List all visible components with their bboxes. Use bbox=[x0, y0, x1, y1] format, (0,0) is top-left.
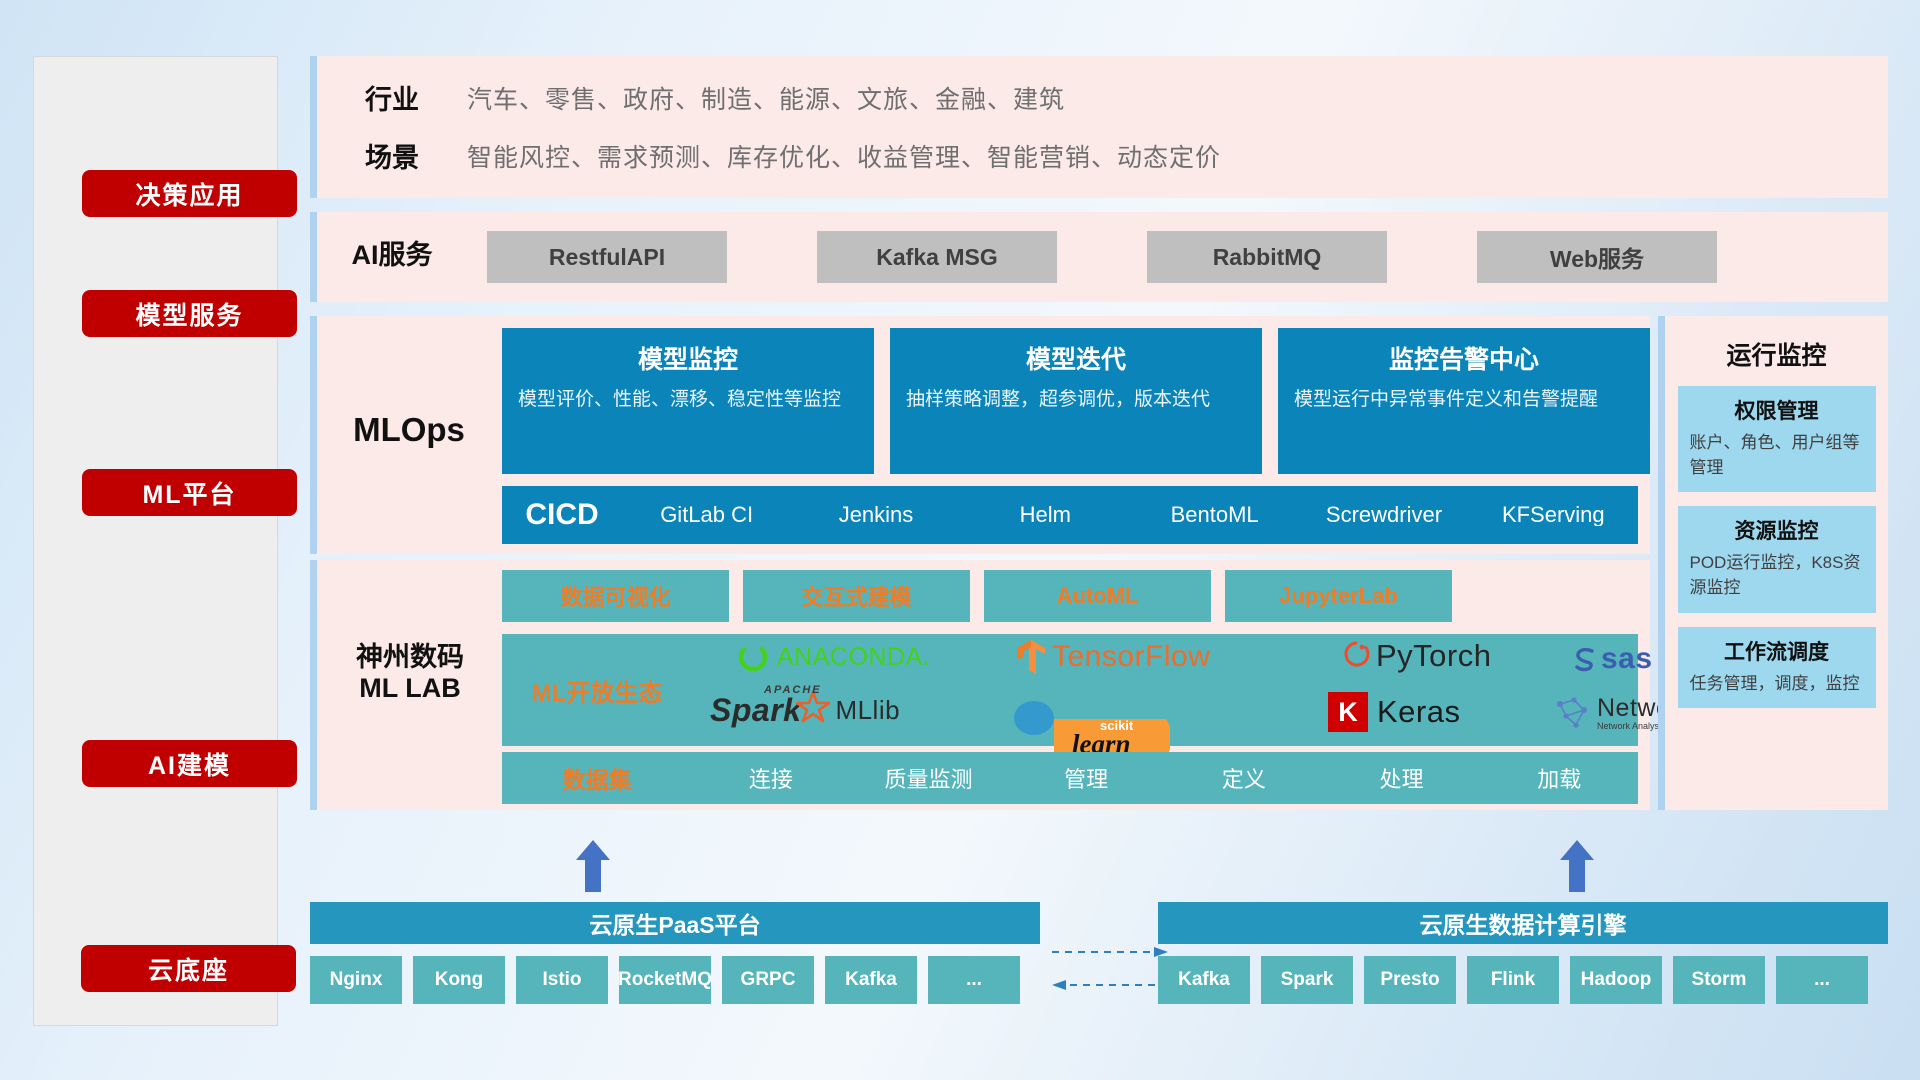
keras-mark-icon: K bbox=[1328, 692, 1368, 732]
sas-mark-icon bbox=[1570, 644, 1600, 674]
ml-open-ecosystem-title: ML开放生态 bbox=[502, 673, 692, 708]
card-title: 工作流调度 bbox=[1690, 636, 1864, 666]
pytorch-logo-text: PyTorch bbox=[1376, 638, 1491, 674]
ml-open-ecosystem-bar: ML开放生态 ANACONDA. bbox=[502, 634, 1638, 746]
card-desc: 账户、角色、用户组等管理 bbox=[1690, 431, 1864, 480]
spark-logo-text: Spark bbox=[710, 692, 801, 729]
tool-chip-interactive-modeling[interactable]: 交互式建模 bbox=[743, 570, 970, 622]
card-title: 模型监控 bbox=[518, 340, 858, 376]
paas-chip-kong[interactable]: Kong bbox=[413, 956, 505, 1004]
card-title: 监控告警中心 bbox=[1294, 340, 1634, 376]
cicd-item-screwdriver[interactable]: Screwdriver bbox=[1299, 504, 1468, 526]
runtime-monitor-panel: 运行监控 权限管理 账户、角色、用户组等管理 资源监控 POD运行监控，K8S资… bbox=[1658, 316, 1888, 810]
dataset-item-processing[interactable]: 处理 bbox=[1323, 762, 1481, 794]
ai-service-band: AI服务 RestfulAPI Kafka MSG RabbitMQ Web服务 bbox=[310, 212, 1888, 302]
ml-lab-label-line2: ML LAB bbox=[325, 673, 495, 704]
ml-lab-label: 神州数码 ML LAB bbox=[325, 642, 495, 704]
ai-service-label: AI服务 bbox=[317, 240, 467, 271]
scikit-learn-logo: scikit learn bbox=[1010, 692, 1050, 738]
industry-label: 行业 bbox=[317, 78, 467, 117]
monitor-card-resource-monitoring[interactable]: 资源监控 POD运行监控，K8S资源监控 bbox=[1678, 506, 1876, 612]
engine-chip-kafka[interactable]: Kafka bbox=[1158, 956, 1250, 1004]
left-rail: 决策应用 模型服务 ML平台 AI建模 bbox=[33, 56, 278, 1026]
ai-service-chip-restfulapi[interactable]: RestfulAPI bbox=[487, 231, 727, 283]
scenario-value: 智能风控、需求预测、库存优化、收益管理、智能营销、动态定价 bbox=[467, 138, 1221, 174]
engine-chip-more[interactable]: ... bbox=[1776, 956, 1868, 1004]
architecture-diagram: 决策应用 模型服务 ML平台 AI建模 云底座 行业 汽车、零售、政府、制造、能… bbox=[0, 0, 1920, 1080]
rail-item-model-service[interactable]: 模型服务 bbox=[82, 290, 297, 337]
cicd-item-helm[interactable]: Helm bbox=[961, 504, 1130, 526]
engine-chip-spark[interactable]: Spark bbox=[1261, 956, 1353, 1004]
dataset-item-definition[interactable]: 定义 bbox=[1165, 762, 1323, 794]
mllib-logo-text: MLlib bbox=[835, 695, 900, 726]
tensorflow-mark-icon bbox=[1014, 638, 1048, 676]
mlops-card-row: 模型监控 模型评价、性能、漂移、稳定性等监控 模型迭代 抽样策略调整，超参调优，… bbox=[502, 328, 1650, 474]
rail-label: 模型服务 bbox=[135, 296, 243, 332]
anaconda-logo: ANACONDA. bbox=[736, 640, 930, 674]
industry-scenario-band: 行业 汽车、零售、政府、制造、能源、文旅、金融、建筑 场景 智能风控、需求预测、… bbox=[310, 56, 1888, 198]
spark-mllib-logo: APACHE Spark MLlib bbox=[710, 692, 900, 729]
ml-lab-tool-row: 数据可视化 交互式建模 AutoML JupyterLab bbox=[502, 570, 1452, 622]
card-desc: 模型评价、性能、漂移、稳定性等监控 bbox=[518, 386, 858, 414]
ml-lab-band: 神州数码 ML LAB 数据可视化 交互式建模 AutoML JupyterLa… bbox=[310, 560, 1650, 810]
mlops-card-model-iteration[interactable]: 模型迭代 抽样策略调整，超参调优，版本迭代 bbox=[890, 328, 1262, 474]
engine-chip-presto[interactable]: Presto bbox=[1364, 956, 1456, 1004]
cicd-bar: CICD GitLab CI Jenkins Helm BentoML Scre… bbox=[502, 486, 1638, 544]
paas-chip-istio[interactable]: Istio bbox=[516, 956, 608, 1004]
dataset-item-connect[interactable]: 连接 bbox=[692, 762, 850, 794]
rail-item-cloud-base[interactable]: 云底座 bbox=[81, 945, 296, 992]
dataset-item-loading[interactable]: 加载 bbox=[1480, 762, 1638, 794]
card-title: 权限管理 bbox=[1690, 395, 1864, 425]
ai-service-chip-kafka-msg[interactable]: Kafka MSG bbox=[817, 231, 1057, 283]
spark-apache-text: APACHE bbox=[764, 684, 822, 696]
sas-logo-text: sas bbox=[1601, 642, 1653, 676]
cicd-title: CICD bbox=[502, 498, 622, 532]
cloud-base-section: 云原生PaaS平台 Nginx Kong Istio RocketMQ GRPC… bbox=[310, 884, 1888, 1044]
card-title: 模型迭代 bbox=[906, 340, 1246, 376]
tool-chip-data-visualization[interactable]: 数据可视化 bbox=[502, 570, 729, 622]
ecosystem-logo-grid: ANACONDA. TensorFlow PyTorch bbox=[692, 634, 1638, 746]
monitor-card-permission-management[interactable]: 权限管理 账户、角色、用户组等管理 bbox=[1678, 386, 1876, 492]
ml-lab-label-line1: 神州数码 bbox=[325, 642, 495, 673]
mlops-card-model-monitoring[interactable]: 模型监控 模型评价、性能、漂移、稳定性等监控 bbox=[502, 328, 874, 474]
mlops-label: MLOps bbox=[329, 411, 489, 449]
card-desc: 抽样策略调整，超参调优，版本迭代 bbox=[906, 386, 1246, 414]
industry-row: 行业 汽车、零售、政府、制造、能源、文旅、金融、建筑 bbox=[317, 78, 1065, 117]
dataset-item-quality-monitoring[interactable]: 质量监测 bbox=[850, 762, 1008, 794]
keras-logo: K Keras bbox=[1328, 692, 1460, 732]
engine-chip-storm[interactable]: Storm bbox=[1673, 956, 1765, 1004]
tensorflow-logo-text: TensorFlow bbox=[1052, 640, 1210, 674]
rail-label: ML平台 bbox=[142, 475, 236, 511]
dataset-item-management[interactable]: 管理 bbox=[1007, 762, 1165, 794]
cicd-item-gitlab-ci[interactable]: GitLab CI bbox=[622, 504, 791, 526]
paas-chip-grpc[interactable]: GRPC bbox=[722, 956, 814, 1004]
engine-chip-row: Kafka Spark Presto Flink Hadoop Storm ..… bbox=[1158, 956, 1868, 1004]
pytorch-mark-icon bbox=[1342, 639, 1372, 673]
keras-logo-text: Keras bbox=[1377, 694, 1460, 730]
scenario-label: 场景 bbox=[317, 136, 467, 175]
anaconda-mark-icon bbox=[736, 640, 770, 674]
mlops-band: MLOps 模型监控 模型评价、性能、漂移、稳定性等监控 模型迭代 抽样策略调整… bbox=[310, 316, 1650, 554]
paas-chip-more[interactable]: ... bbox=[928, 956, 1020, 1004]
rail-item-ml-platform[interactable]: ML平台 bbox=[82, 469, 297, 516]
cicd-item-jenkins[interactable]: Jenkins bbox=[791, 504, 960, 526]
dataset-item-list: 连接 质量监测 管理 定义 处理 加载 bbox=[692, 762, 1638, 794]
monitor-card-workflow-scheduling[interactable]: 工作流调度 任务管理，调度，监控 bbox=[1678, 627, 1876, 709]
tensorflow-logo: TensorFlow bbox=[1014, 638, 1210, 676]
card-title: 资源监控 bbox=[1690, 515, 1864, 545]
engine-chip-hadoop[interactable]: Hadoop bbox=[1570, 956, 1662, 1004]
sas-logo: sas bbox=[1570, 642, 1653, 676]
rail-label: 决策应用 bbox=[135, 176, 243, 212]
card-desc: POD运行监控，K8S资源监控 bbox=[1690, 551, 1864, 600]
networkx-mark-icon bbox=[1552, 694, 1592, 732]
cicd-item-bentoml[interactable]: BentoML bbox=[1130, 504, 1299, 526]
anaconda-logo-text: ANACONDA. bbox=[777, 643, 930, 672]
scenario-row: 场景 智能风控、需求预测、库存优化、收益管理、智能营销、动态定价 bbox=[317, 136, 1221, 175]
industry-value: 汽车、零售、政府、制造、能源、文旅、金融、建筑 bbox=[467, 80, 1065, 116]
pytorch-logo: PyTorch bbox=[1342, 638, 1491, 674]
paas-chip-nginx[interactable]: Nginx bbox=[310, 956, 402, 1004]
rail-item-ai-modeling[interactable]: AI建模 bbox=[82, 740, 297, 787]
cicd-item-kfserving[interactable]: KFServing bbox=[1469, 504, 1638, 526]
data-compute-engine-header: 云原生数据计算引擎 bbox=[1158, 902, 1888, 944]
engine-chip-flink[interactable]: Flink bbox=[1467, 956, 1559, 1004]
paas-chip-row: Nginx Kong Istio RocketMQ GRPC Kafka ... bbox=[310, 956, 1020, 1004]
dataset-bar: 数据集 连接 质量监测 管理 定义 处理 加载 bbox=[502, 752, 1638, 804]
card-desc: 任务管理，调度，监控 bbox=[1690, 672, 1864, 697]
paas-platform-header: 云原生PaaS平台 bbox=[310, 902, 1040, 944]
rail-label: 云底座 bbox=[148, 951, 229, 987]
tool-chip-jupyterlab[interactable]: JupyterLab bbox=[1225, 570, 1452, 622]
runtime-monitor-title: 运行监控 bbox=[1665, 316, 1888, 372]
paas-chip-rocketmq[interactable]: RocketMQ bbox=[619, 956, 711, 1004]
ai-service-chip-row: RestfulAPI Kafka MSG RabbitMQ Web服务 bbox=[487, 231, 1717, 283]
keras-mark-letter: K bbox=[1338, 697, 1358, 728]
card-desc: 模型运行中异常事件定义和告警提醒 bbox=[1294, 386, 1634, 414]
rail-item-decision-app[interactable]: 决策应用 bbox=[82, 170, 297, 217]
ai-service-chip-web-service[interactable]: Web服务 bbox=[1477, 231, 1717, 283]
cicd-item-list: GitLab CI Jenkins Helm BentoML Screwdriv… bbox=[622, 504, 1638, 526]
dataset-title: 数据集 bbox=[502, 761, 692, 795]
paas-chip-kafka[interactable]: Kafka bbox=[825, 956, 917, 1004]
rail-label: AI建模 bbox=[148, 746, 231, 782]
tool-chip-automl[interactable]: AutoML bbox=[984, 570, 1211, 622]
ai-service-chip-rabbitmq[interactable]: RabbitMQ bbox=[1147, 231, 1387, 283]
mlops-card-alert-center[interactable]: 监控告警中心 模型运行中异常事件定义和告警提醒 bbox=[1278, 328, 1650, 474]
